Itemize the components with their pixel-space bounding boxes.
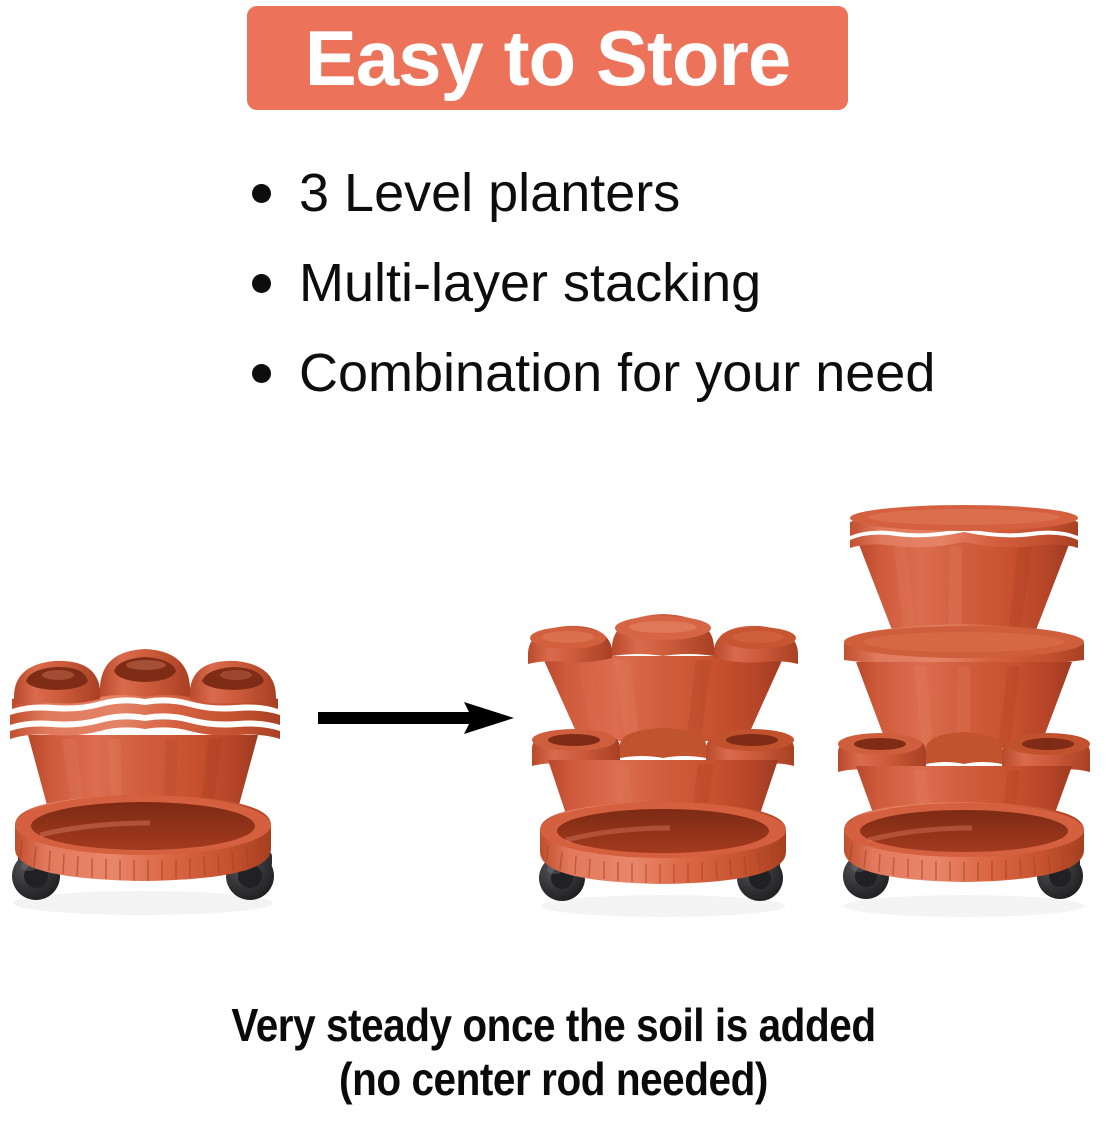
feature-item-combination: Combination for your need	[252, 328, 1052, 418]
feature-label: Combination for your need	[299, 346, 935, 400]
wheeled-caddy-base	[540, 802, 786, 884]
bullet-dot-icon	[252, 184, 271, 203]
three-tier-planter-svg	[822, 490, 1107, 925]
ground-shadow	[13, 891, 273, 915]
feature-label: 3 Level planters	[299, 166, 680, 220]
planter-top-lobes	[14, 649, 276, 705]
wheeled-caddy-base	[844, 802, 1084, 882]
ground-shadow	[541, 895, 785, 917]
bullet-dot-icon	[252, 274, 271, 293]
ground-shadow	[844, 895, 1084, 917]
caption-line-2: (no center rod needed)	[66, 1052, 1040, 1106]
two-tier-planter-stack	[518, 610, 808, 925]
single-tier-planter-svg	[0, 635, 290, 925]
header-banner: Easy to Store	[247, 6, 848, 110]
bottom-caption: Very steady once the soil is added (no c…	[0, 998, 1107, 1106]
bullet-dot-icon	[252, 364, 271, 383]
right-arrow-icon	[318, 700, 514, 736]
three-tier-planter-stack	[822, 490, 1107, 925]
page-title: Easy to Store	[305, 19, 791, 97]
planter-tier-top	[850, 505, 1078, 640]
feature-label: Multi-layer stacking	[299, 256, 761, 310]
single-tier-planter	[0, 635, 290, 925]
product-illustration-stage	[0, 470, 1107, 930]
feature-list: 3 Level planters Multi-layer stacking Co…	[252, 148, 1052, 418]
caption-line-1: Very steady once the soil is added	[66, 998, 1040, 1052]
right-arrow-svg	[318, 700, 514, 736]
feature-item-levels: 3 Level planters	[252, 148, 1052, 238]
two-tier-planter-svg	[518, 610, 808, 925]
feature-item-stacking: Multi-layer stacking	[252, 238, 1052, 328]
planter-tier-upper	[528, 614, 798, 744]
wheeled-caddy-base	[15, 795, 271, 881]
